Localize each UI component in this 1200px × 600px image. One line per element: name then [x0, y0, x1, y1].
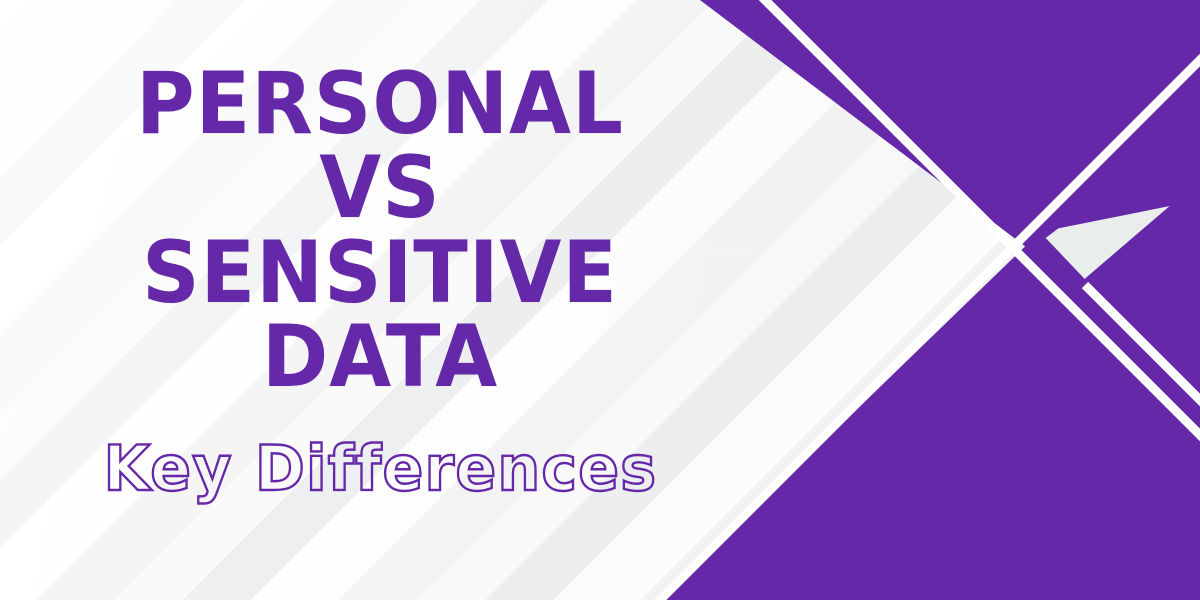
subtitle-block: Key Differences	[0, 432, 760, 505]
banner-graphic: PERSONAL VS SENSITIVE DATA Key Differenc…	[0, 0, 1200, 600]
headline-line-1: PERSONAL	[27, 62, 734, 146]
headline-line-2: VS	[27, 146, 734, 230]
headline-line-3: SENSITIVE	[27, 231, 734, 315]
headline-block: PERSONAL VS SENSITIVE DATA	[0, 62, 760, 399]
headline-line-4: DATA	[27, 315, 734, 399]
subtitle-text: Key Differences	[103, 432, 657, 505]
